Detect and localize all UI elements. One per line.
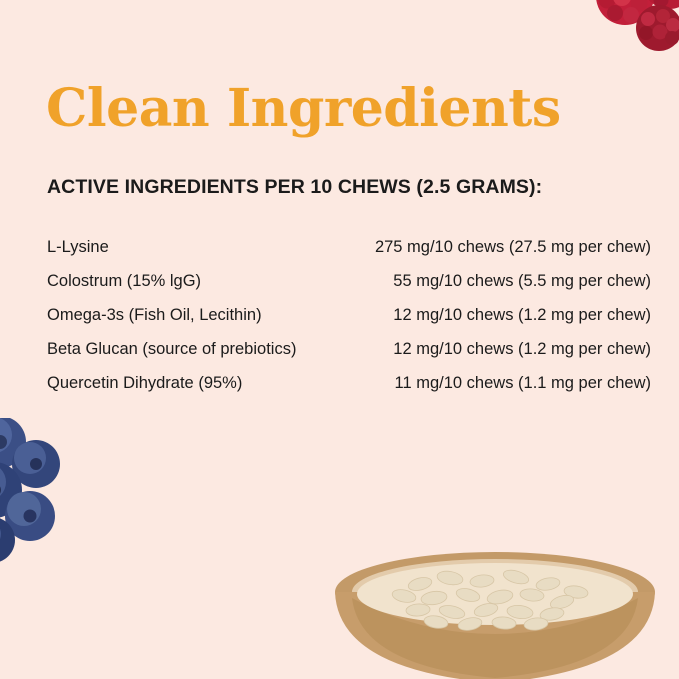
product-detail-page: Clean Ingredients ACTIVE INGREDIENTS PER…: [0, 0, 679, 679]
ingredient-name: Omega-3s (Fish Oil, Lecithin): [47, 306, 334, 325]
ingredient-amount: 55 mg/10 chews (5.5 mg per chew): [334, 272, 651, 291]
table-row: Omega-3s (Fish Oil, Lecithin) 12 mg/10 c…: [47, 306, 651, 340]
raspberries-image: [551, 0, 679, 76]
table-row: Colostrum (15% lgG) 55 mg/10 chews (5.5 …: [47, 272, 651, 306]
table-row: Beta Glucan (source of prebiotics) 12 mg…: [47, 340, 651, 374]
blueberries-image: [0, 418, 88, 568]
ingredient-amount: 12 mg/10 chews (1.2 mg per chew): [334, 340, 651, 359]
ingredient-name: Colostrum (15% lgG): [47, 272, 334, 291]
ingredient-name: Beta Glucan (source of prebiotics): [47, 340, 334, 359]
page-title: Clean Ingredients: [46, 78, 561, 139]
ingredient-amount: 275 mg/10 chews (27.5 mg per chew): [334, 238, 651, 257]
table-row: L-Lysine 275 mg/10 chews (27.5 mg per ch…: [47, 238, 651, 272]
ingredient-amount: 11 mg/10 chews (1.1 mg per chew): [334, 374, 651, 393]
oat-bowl-image: [330, 548, 660, 679]
table-row: Quercetin Dihydrate (95%) 11 mg/10 chews…: [47, 374, 651, 408]
section-subtitle: ACTIVE INGREDIENTS PER 10 CHEWS (2.5 GRA…: [47, 176, 542, 199]
ingredient-amount: 12 mg/10 chews (1.2 mg per chew): [334, 306, 651, 325]
ingredient-name: L-Lysine: [47, 238, 334, 257]
ingredient-name: Quercetin Dihydrate (95%): [47, 374, 334, 393]
ingredients-table: L-Lysine 275 mg/10 chews (27.5 mg per ch…: [47, 238, 651, 408]
